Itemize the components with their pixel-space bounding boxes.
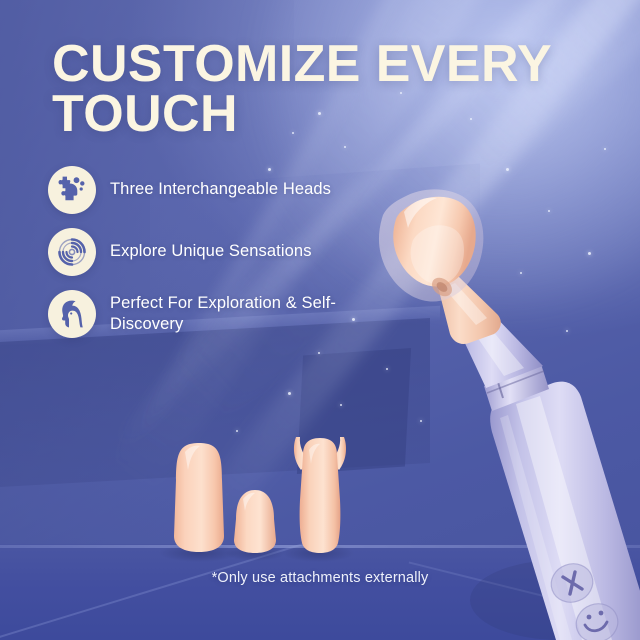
product-marketing-banner: CUSTOMIZE EVERY TOUCH Three Interchangea… — [0, 0, 640, 640]
feature-item: Perfect For Exploration & Self-Discovery — [48, 290, 378, 338]
feature-list: Three Interchangeable Heads — [48, 166, 378, 352]
woman-profile-icon — [48, 290, 96, 338]
spiral-vortex-icon — [48, 228, 96, 276]
page-title: CUSTOMIZE EVERY TOUCH — [52, 40, 612, 140]
feature-item: Explore Unique Sensations — [48, 228, 378, 276]
feature-item: Three Interchangeable Heads — [48, 166, 378, 214]
feature-label: Perfect For Exploration & Self-Discovery — [110, 293, 378, 335]
feature-label: Explore Unique Sensations — [110, 241, 312, 262]
smiley-eye-right — [599, 611, 604, 616]
smiley-eye-left — [587, 615, 592, 620]
puzzle-head-icon — [48, 166, 96, 214]
disclaimer-text: *Only use attachments externally — [0, 570, 640, 586]
feature-label: Three Interchangeable Heads — [110, 179, 331, 200]
